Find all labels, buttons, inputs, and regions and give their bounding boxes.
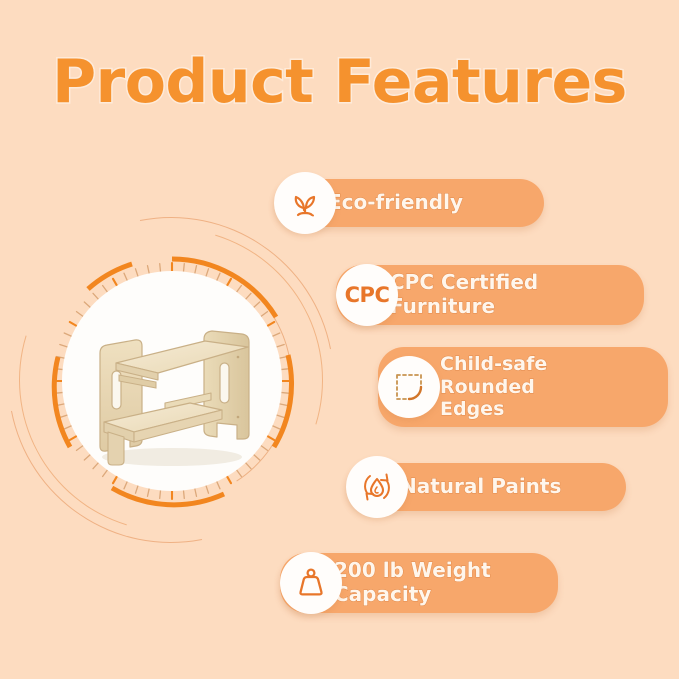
- feature-row-child-safe-edges[interactable]: Child-safe Rounded Edges: [378, 356, 668, 418]
- product-image-step-stool: [72, 295, 272, 475]
- weight-icon: [280, 552, 342, 614]
- feature-pill[interactable]: Child-safe Rounded Edges: [378, 347, 668, 426]
- feature-label: 200 lb Weight Capacity: [334, 559, 532, 606]
- sprout-icon: [274, 172, 336, 234]
- water-drop-recycle-icon: [346, 456, 408, 518]
- feature-pill[interactable]: 200 lb Weight Capacity: [280, 553, 558, 612]
- feature-row-eco-friendly[interactable]: Eco-friendly: [274, 172, 544, 234]
- feature-label: Eco-friendly: [328, 191, 463, 215]
- product-image-disc: [62, 271, 282, 491]
- feature-label: Child-safe Rounded Edges: [440, 353, 642, 420]
- cpc-logo-icon: CPC: [336, 264, 398, 326]
- product-medallion: [36, 245, 308, 517]
- feature-label: Natural Paints: [400, 475, 561, 499]
- feature-row-weight-capacity[interactable]: 200 lb Weight Capacity: [280, 552, 558, 614]
- rounded-corner-icon: [378, 356, 440, 418]
- feature-row-natural-paints[interactable]: Natural Paints: [346, 456, 626, 518]
- page-title: Product Features: [0, 47, 679, 117]
- feature-pill[interactable]: Eco-friendly: [274, 179, 544, 227]
- feature-label: CPC Certified Furniture: [390, 271, 618, 318]
- product-features-infographic: Product Features: [0, 0, 679, 679]
- feature-row-cpc-certified[interactable]: CPC CPC Certified Furniture: [336, 264, 644, 326]
- feature-pill[interactable]: CPC CPC Certified Furniture: [336, 265, 644, 324]
- feature-pill[interactable]: Natural Paints: [346, 463, 626, 511]
- cpc-logo-text: CPC: [345, 283, 390, 307]
